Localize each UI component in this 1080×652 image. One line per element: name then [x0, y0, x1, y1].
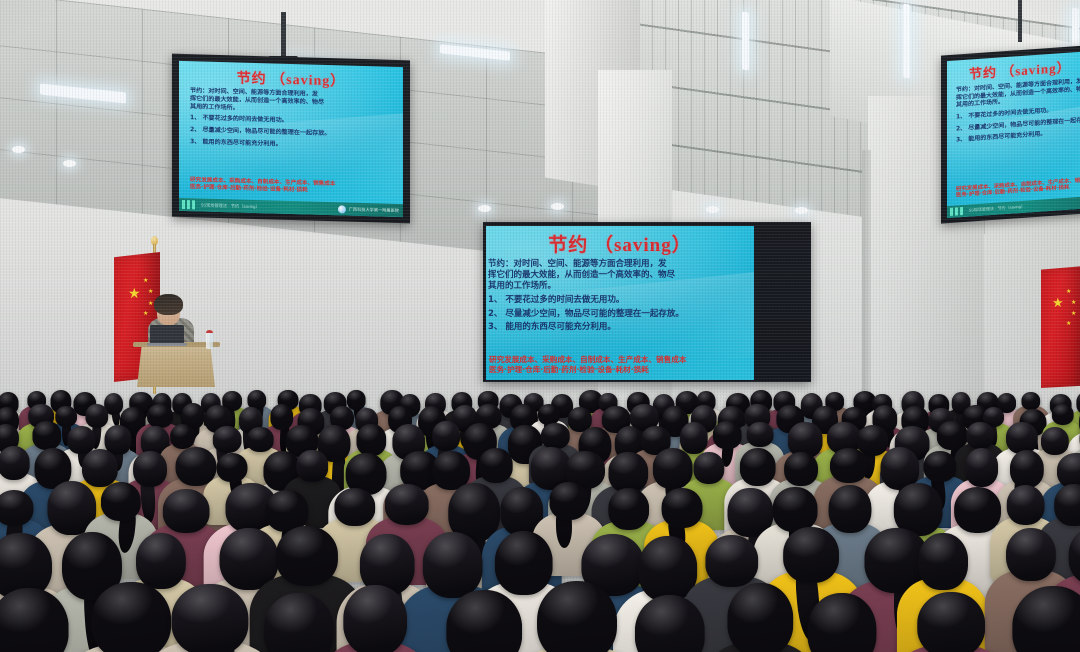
main-slide-red: 研究发展成本、采购成本、自制成本、生产成本、销售成本 医务·护理·仓库·后勤·药…	[489, 355, 686, 374]
chinese-flag-right: ★ ★ ★ ★ ★	[1041, 266, 1080, 388]
audience-member-head	[343, 585, 407, 652]
left-tv-slide: 节约 （saving） 节约：对时间、空间、能源等方面合理利用，发 挥它们的最大…	[179, 61, 403, 217]
main-red-line-2: 医务·护理·仓库·后勤·药剂·检验·设备·耗材·损耗	[489, 365, 686, 374]
right-tv-slide-body: 节约：对时间、空间、能源等方面合理利用，发 挥它们的最大效能，从而创造一个高效率…	[956, 77, 1080, 145]
main-projection-screen[interactable]: 节约 （saving） 节约：对时间、空间、能源等方面合理利用，发 挥它们的最大…	[483, 222, 811, 382]
footer-bars-icon-right	[950, 207, 963, 216]
audience-member-head	[918, 533, 968, 590]
audience-member-head	[170, 424, 196, 449]
ceiling-downlight-6	[795, 207, 808, 214]
flag-star-small-right-3: ★	[1071, 311, 1076, 317]
audience-member-head	[705, 535, 758, 587]
audience-member-head	[1054, 484, 1080, 526]
ceiling-downlight-2	[63, 160, 76, 167]
ceiling-downlight-1	[12, 146, 25, 153]
left-tv-slide-footer: 5S现场管理法 · 节约（saving） 广西科技大学第一附属医院	[179, 198, 403, 217]
right-tv-slide: 节约 （saving） 节约：对时间、空间、能源等方面合理利用，发 挥它们的最大…	[947, 50, 1080, 218]
main-red-line-1: 研究发展成本、采购成本、自制成本、生产成本、销售成本	[489, 355, 686, 364]
audience-member-head	[479, 448, 513, 483]
audience-member-head	[216, 453, 247, 482]
left-tv-footer-left: 5S现场管理法 · 节约（saving）	[201, 202, 260, 210]
flag-star-small-left-2: ★	[148, 289, 153, 295]
main-body-line-3: 其用的工作场所。	[488, 281, 684, 292]
main-body-line-1: 节约：对时间、空间、能源等方面合理利用，发	[488, 259, 684, 270]
audience-member-head	[101, 482, 141, 522]
flag-star-small-right-2: ★	[1071, 300, 1076, 306]
flag-star-small-right-1: ★	[1066, 289, 1071, 295]
audience-member-head	[136, 533, 186, 589]
audience-member-head	[829, 485, 872, 533]
wooden-lectern	[137, 345, 215, 387]
main-body-line-4: 1、 不要花过多的时间去做无用功。	[488, 295, 684, 306]
ceiling-downlight-4	[551, 203, 564, 210]
audience-member-head	[661, 488, 702, 528]
left-wall-tv[interactable]: 节约 （saving） 节约：对时间、空间、能源等方面合理利用，发 挥它们的最大…	[172, 54, 410, 224]
audience-member-head	[808, 593, 877, 652]
right-tv-slide-title: 节约 （saving）	[969, 50, 1080, 82]
ceiling-downlight-3	[478, 205, 491, 212]
left-tv-slide-red: 研究发展成本、采购成本、自制成本、生产成本、销售成本 医务·护理·仓库·后勤·药…	[190, 177, 335, 195]
right-tv-footer-left: 5S现场管理法 · 节约（saving）	[969, 204, 1025, 214]
ceiling-light-strip-4	[742, 12, 749, 71]
water-bottle-icon	[206, 330, 213, 349]
right-tv-slide-footer: 5S现场管理法 · 节约（saving）	[947, 195, 1080, 218]
right-tv-slide-red: 研究发展成本、采购成本、自制成本、生产成本、销售成本 医务·护理·仓库·后勤·药…	[956, 176, 1080, 199]
main-slide-body: 节约：对时间、空间、能源等方面合理利用，发 挥它们的最大效能，从而创造一个高效率…	[488, 259, 684, 333]
footer-bars-icon	[182, 200, 195, 209]
flag-star-small-right-4: ★	[1066, 321, 1071, 327]
main-slide: 节约 （saving） 节约：对时间、空间、能源等方面合理利用，发 挥它们的最大…	[486, 226, 754, 380]
right-wall-tv[interactable]: 节约 （saving） 节约：对时间、空间、能源等方面合理利用，发 挥它们的最大…	[941, 44, 1080, 223]
audience-member-head	[276, 526, 338, 586]
left-tv-slide-body: 节约：对时间、空间、能源等方面合理利用，发 挥它们的最大效能，从而创造一个高效率…	[190, 87, 330, 150]
flag-star-small-left-3: ★	[148, 301, 153, 307]
audience-member-head	[746, 422, 773, 447]
audience-member-torso	[1062, 646, 1080, 652]
tv-mount-arm-right	[1018, 0, 1022, 42]
laptop-icon	[150, 325, 184, 344]
laptop-base	[147, 343, 187, 346]
audience-member	[1057, 590, 1080, 652]
ceiling-light-strip-5	[903, 4, 910, 79]
left-tv-footer-right: 广西科技大学第一附属医院	[349, 206, 399, 213]
main-slide-title: 节约 （saving）	[486, 230, 754, 257]
main-body-line-6: 3、 能用的东西尽可能充分利用。	[488, 322, 684, 333]
main-body-line-5: 2、 尽量减少空间，物品尽可能的整理在一起存放。	[488, 309, 684, 320]
presenter-head	[154, 294, 183, 315]
hospital-logo-icon: 广西科技大学第一附属医院	[338, 205, 399, 215]
audience-member-head	[297, 450, 328, 482]
structural-column-right-edge	[862, 150, 871, 400]
lecture-hall-photo: 节约 （saving） 节约：对时间、空间、能源等方面合理利用，发 挥它们的最大…	[0, 0, 1080, 652]
flag-star-small-left-4: ★	[143, 311, 148, 317]
ceiling-downlight-5	[706, 206, 719, 213]
main-body-line-2: 挥它们的最大效能，从而创造一个高效率的、物尽	[488, 270, 684, 281]
flag-star-large-right: ★	[1052, 296, 1064, 309]
flag-star-large-left: ★	[128, 286, 141, 300]
audience-member-head	[549, 482, 588, 520]
flag-star-small-left-1: ★	[143, 278, 148, 284]
